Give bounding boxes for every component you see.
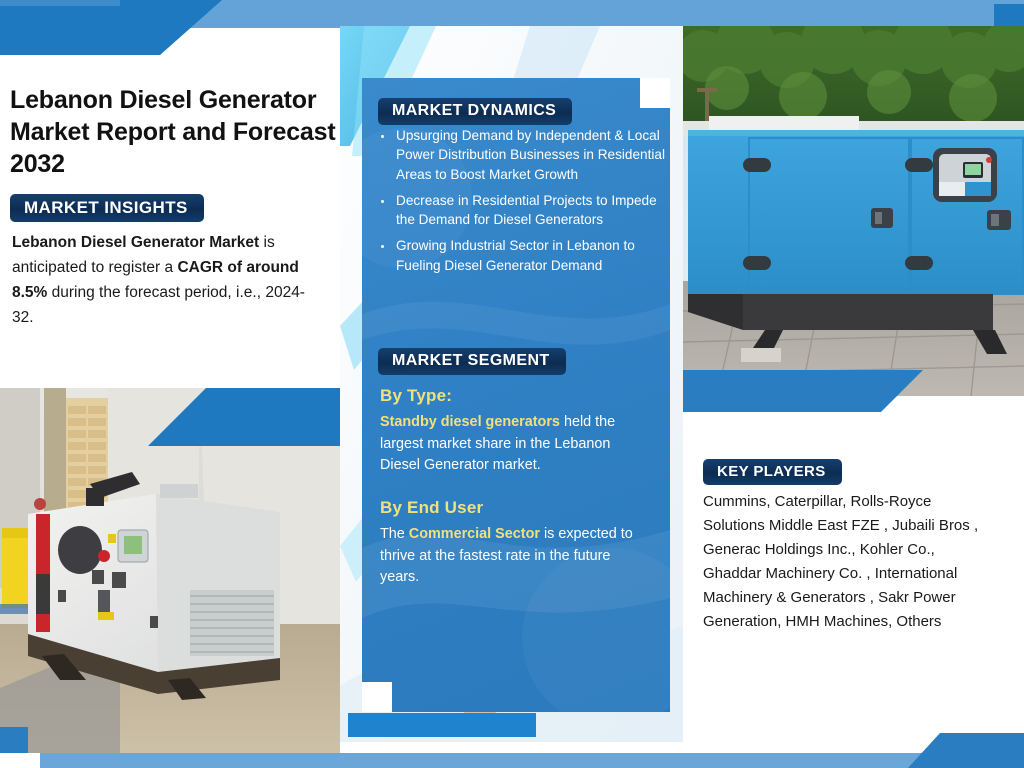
bottom-right-parallelogram-decoration [908,733,1024,768]
bottom-left-square-decoration [0,727,28,755]
market-segment-badge: MARKET SEGMENT [378,348,566,375]
segment-by-type-heading: By Type: [380,386,648,406]
segment-by-type-text: Standby diesel generators held the large… [380,412,648,477]
segment-user-lead: The [380,526,409,542]
segment-by-end-user-heading: By End User [380,498,648,518]
insights-text-2: during the forecast period, i.e., 2024-3… [12,284,305,326]
market-dynamics-badge: MARKET DYNAMICS [378,98,572,125]
infographic-canvas: Lebanon Diesel Generator Market Report a… [0,0,1024,768]
bottom-center-bar-decoration [348,713,536,737]
insights-bold-1: Lebanon Diesel Generator Market [12,234,259,251]
center-content-panel: MARKET DYNAMICS Upsurging Demand by Inde… [362,78,670,712]
top-left-parallelogram-decoration [0,0,222,55]
list-item: Upsurging Demand by Independent & Local … [394,126,670,184]
bottom-strip-decoration [28,753,1024,768]
right-photo-parallelogram-decoration [683,370,923,412]
market-insights-body: Lebanon Diesel Generator Market is antic… [12,230,312,330]
right-generator-photo [683,26,1024,396]
key-players-badge: KEY PLAYERS [703,459,842,485]
right-column-background [683,655,1024,733]
segment-by-end-user-text: The Commercial Sector is expected to thr… [380,524,648,589]
bottom-left-white-gap [0,753,40,768]
segment-by-type-block: By Type: Standby diesel generators held … [380,386,648,477]
market-dynamics-list: Upsurging Demand by Independent & Local … [376,126,670,282]
list-item: Growing Industrial Sector in Lebanon to … [394,236,670,275]
segment-user-highlight: Commercial Sector [409,526,540,542]
page-title: Lebanon Diesel Generator Market Report a… [10,84,340,180]
list-item: Decrease in Residential Projects to Impe… [394,191,670,230]
panel-top-right-notch [640,78,670,108]
segment-type-highlight: Standby diesel generators [380,414,560,430]
market-insights-badge: MARKET INSIGHTS [10,194,204,222]
key-players-body: Cummins, Caterpillar, Rolls-Royce Soluti… [703,490,993,634]
segment-by-end-user-block: By End User The Commercial Sector is exp… [380,498,648,589]
panel-bottom-left-notch [362,682,392,712]
top-left-accent-strip [0,0,120,6]
